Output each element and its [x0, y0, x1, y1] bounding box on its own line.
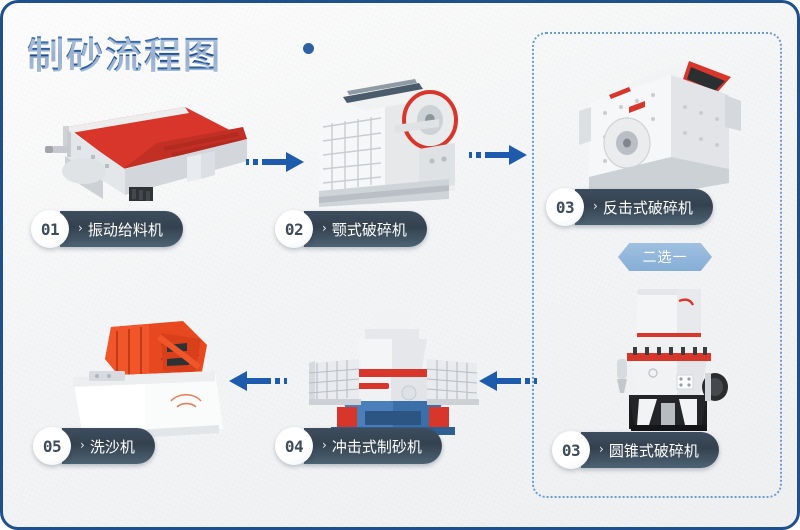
chevron-right-icon: › [78, 221, 83, 235]
arrow-feeder-to-jaw [246, 148, 308, 176]
arrow-vsi-to-washer [225, 367, 287, 395]
step-number-02: 02 [275, 210, 313, 248]
step-badge-03-cone[interactable]: 03 › 圆锥式破碎机 [552, 431, 719, 469]
step-badge-04[interactable]: 04 › 冲击式制砂机 [275, 427, 442, 465]
step-pill-01[interactable]: › 振动给料机 [60, 211, 183, 247]
step-number-04: 04 [275, 427, 313, 465]
step-pill-05[interactable]: › 洗沙机 [62, 428, 155, 464]
step-number-01: 01 [31, 210, 69, 248]
step-number-03-impact: 03 [546, 188, 584, 226]
step-badge-03-impact[interactable]: 03 › 反击式破碎机 [546, 188, 713, 226]
step-label-03-impact: 反击式破碎机 [603, 197, 693, 218]
chevron-right-icon: › [593, 199, 598, 213]
step-pill-04[interactable]: › 冲击式制砂机 [304, 428, 442, 464]
impact-crusher-image [565, 51, 753, 201]
step-badge-02[interactable]: 02 › 颚式破碎机 [275, 210, 427, 248]
chevron-right-icon: › [322, 438, 327, 452]
step-label-01: 振动给料机 [88, 219, 163, 240]
step-pill-02[interactable]: › 颚式破碎机 [304, 211, 427, 247]
step-label-02: 颚式破碎机 [332, 219, 407, 240]
step-pill-03-cone[interactable]: › 圆锥式破碎机 [581, 432, 719, 468]
step-badge-05[interactable]: 05 › 洗沙机 [33, 427, 155, 465]
flowchart-canvas: 制砂流程图 [0, 0, 800, 530]
title-dot-icon [303, 43, 314, 54]
jaw-crusher-image [299, 73, 475, 213]
step-label-04: 冲击式制砂机 [332, 436, 422, 457]
chevron-right-icon: › [322, 221, 327, 235]
choose-one-badge: 二选一 [618, 243, 712, 271]
arrow-jaw-to-impact [469, 141, 531, 169]
arrow-cone-to-vsi [475, 367, 537, 395]
step-badge-01[interactable]: 01 › 振动给料机 [31, 210, 183, 248]
step-number-03-cone: 03 [552, 431, 590, 469]
step-number-05: 05 [33, 427, 71, 465]
cone-crusher-image [593, 275, 741, 445]
step-pill-03-impact[interactable]: › 反击式破碎机 [575, 189, 713, 225]
vsi-sand-maker-image [279, 303, 495, 438]
chevron-right-icon: › [599, 442, 604, 456]
chevron-right-icon: › [80, 438, 85, 452]
vibrating-feeder-image [37, 99, 253, 207]
choose-one-label: 二选一 [643, 247, 688, 267]
page-title: 制砂流程图 [27, 25, 222, 79]
sand-washer-image [65, 315, 243, 443]
step-label-05: 洗沙机 [90, 436, 135, 457]
step-label-03-cone: 圆锥式破碎机 [609, 440, 699, 461]
